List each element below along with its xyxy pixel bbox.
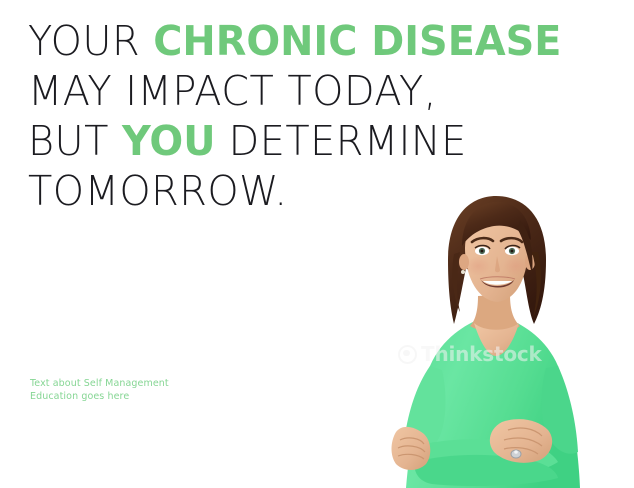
headline-block: YOUR CHRONIC DISEASE MAY IMPACT TODAY, B… xyxy=(28,16,628,216)
caption-block: Text about Self Management Education goe… xyxy=(30,377,169,403)
headline-line-3: BUT YOU DETERMINE xyxy=(28,116,610,166)
slide-canvas: Thinkstock YOUR CHRONIC DISEASE MAY IMPA… xyxy=(0,0,634,488)
headline-line-3-accent: YOU xyxy=(122,117,215,165)
woman-illustration xyxy=(370,190,634,488)
headline-line-1: YOUR CHRONIC DISEASE xyxy=(28,16,610,66)
stock-photo-woman xyxy=(370,190,634,488)
headline-line-4-pre: TOMORROW. xyxy=(28,167,288,215)
headline-line-2-pre: MAY IMPACT TODAY, xyxy=(28,67,437,115)
headline-line-3-post: DETERMINE xyxy=(216,117,467,165)
headline-line-1-pre: YOUR xyxy=(28,17,153,65)
headline-line-2: MAY IMPACT TODAY, xyxy=(28,66,610,116)
headline-line-3-pre: BUT xyxy=(28,117,122,165)
caption-line-2: Education goes here xyxy=(30,390,169,403)
headline-line-1-accent: CHRONIC DISEASE xyxy=(153,17,561,65)
caption-line-1: Text about Self Management xyxy=(30,377,169,390)
